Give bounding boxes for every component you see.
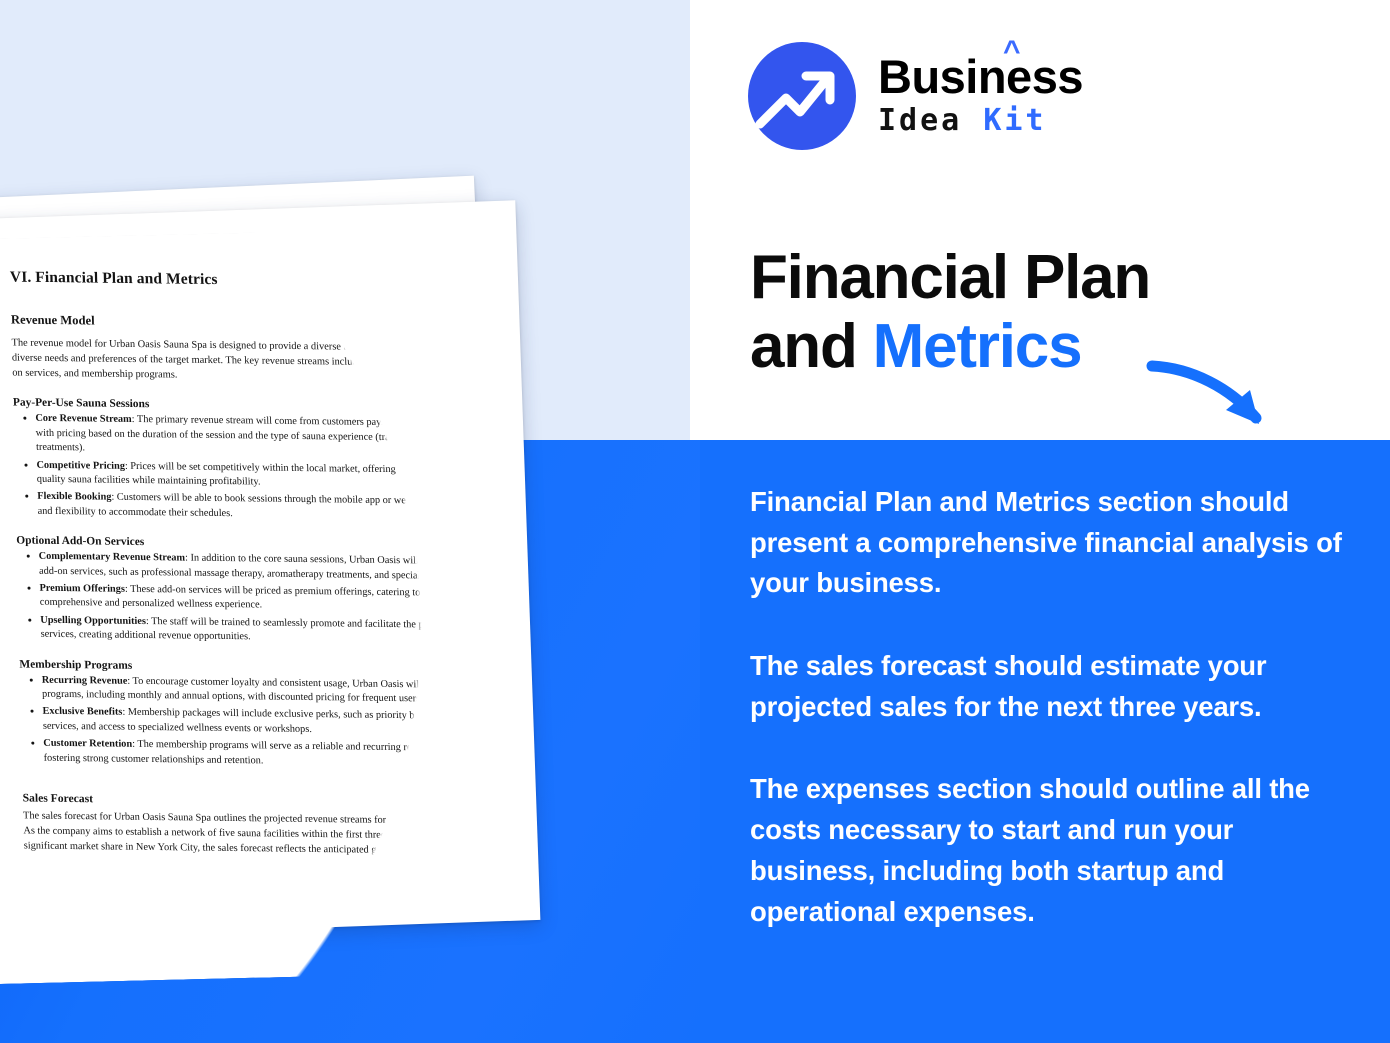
document-sheet-front <box>0 225 587 984</box>
copy-paragraph-3: The expenses section should outline all … <box>750 769 1350 932</box>
page-title-line1: Financial Plan <box>750 243 1310 312</box>
poster-canvas: V Re The inc stre Pay V Re The inc stre … <box>0 0 1390 1043</box>
copy-paragraph-1: Financial Plan and Metrics section shoul… <box>750 482 1350 604</box>
brand-name-business-text: Business <box>878 50 1083 103</box>
brand-logo: Business ^ Idea Kit <box>748 42 1083 150</box>
brand-wordmark: Business ^ Idea Kit <box>878 53 1083 140</box>
circumflex-accent-icon: ^ <box>1003 37 1020 67</box>
growth-arrow-circle-icon <box>748 42 856 150</box>
page-title-line2-dark: and <box>750 312 873 381</box>
brand-name-business: Business ^ <box>878 53 1083 100</box>
brand-name-kit: Kit <box>983 103 1046 138</box>
body-copy: Financial Plan and Metrics section shoul… <box>750 482 1350 932</box>
brand-name-idea: Idea <box>878 103 962 138</box>
copy-paragraph-2: The sales forecast should estimate your … <box>750 646 1350 727</box>
page-title-line2-accent: Metrics <box>873 312 1082 381</box>
curved-down-right-arrow-icon <box>1146 352 1296 449</box>
document-stack: V Re The inc stre Pay V Re The inc stre … <box>0 150 710 980</box>
brand-name-idea-kit: Idea Kit <box>878 102 1083 140</box>
